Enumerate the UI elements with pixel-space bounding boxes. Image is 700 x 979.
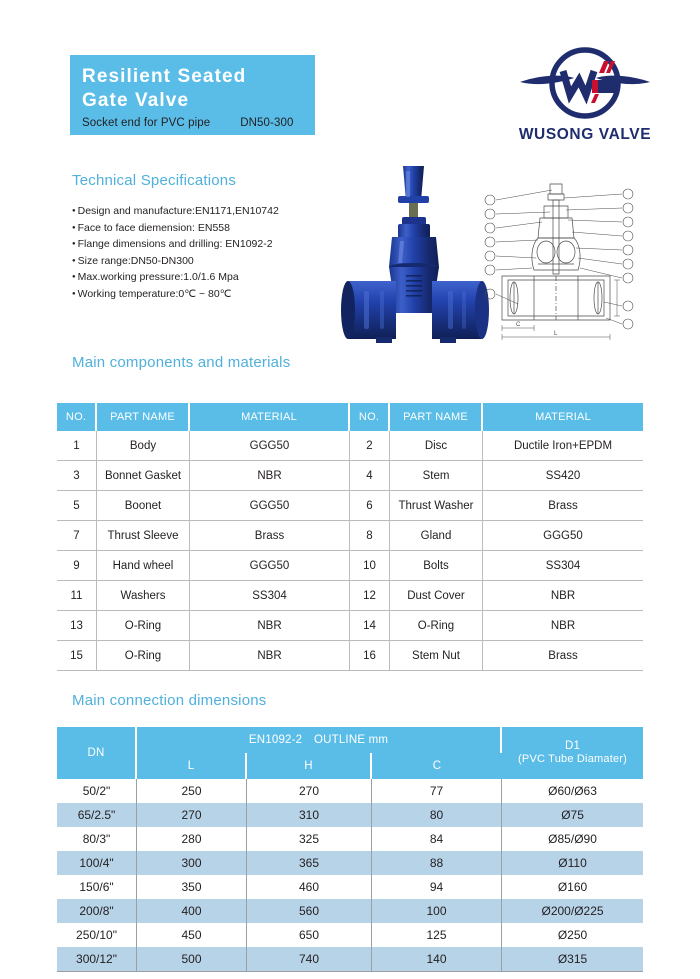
dimensions-table: DN EN1092-2 OUTLINE mm D1 (PVC Tube Diam… bbox=[57, 727, 643, 972]
cell-no: 13 bbox=[57, 611, 97, 641]
components-heading: Main components and materials bbox=[72, 354, 290, 371]
cell-c: 80 bbox=[372, 803, 502, 827]
cell-d1: Ø85/Ø90 bbox=[502, 827, 643, 851]
cell-no: 6 bbox=[350, 491, 390, 521]
spec-item: Working temperature:0℃ ~ 80℃ bbox=[72, 286, 352, 303]
cell-d1: Ø200/Ø225 bbox=[502, 899, 643, 923]
cell-part-name: Boonet bbox=[97, 491, 190, 521]
cell-part-name: O-Ring bbox=[97, 641, 190, 671]
cell-material: GGG50 bbox=[190, 551, 350, 581]
spec-item: Size range:DN50-DN300 bbox=[72, 253, 352, 270]
cell-h: 310 bbox=[247, 803, 372, 827]
cell-material: SS304 bbox=[190, 581, 350, 611]
table-row: 200/8" 400 560 100 Ø200/Ø225 bbox=[57, 899, 643, 923]
cell-part-name: Thrust Washer bbox=[390, 491, 483, 521]
column-header-material-left: MATERIAL bbox=[190, 403, 350, 431]
valve-cross-section-drawing: C L bbox=[462, 178, 648, 343]
cell-part-name: O-Ring bbox=[97, 611, 190, 641]
cell-no: 14 bbox=[350, 611, 390, 641]
cell-part-name: Bonnet Gasket bbox=[97, 461, 190, 491]
table-row: 150/6" 350 460 94 Ø160 bbox=[57, 875, 643, 899]
cell-h: 365 bbox=[247, 851, 372, 875]
cell-l: 300 bbox=[137, 851, 247, 875]
table-row: 300/12" 500 740 140 Ø315 bbox=[57, 947, 643, 972]
column-header-dn: DN bbox=[57, 727, 137, 779]
cell-material: Brass bbox=[190, 521, 350, 551]
table-row: 11 Washers SS304 12 Dust Cover NBR bbox=[57, 581, 643, 611]
cell-l: 450 bbox=[137, 923, 247, 947]
table-row: 250/10" 450 650 125 Ø250 bbox=[57, 923, 643, 947]
table-row: 7 Thrust Sleeve Brass 8 Gland GGG50 bbox=[57, 521, 643, 551]
cell-d1: Ø315 bbox=[502, 947, 643, 972]
cell-part-name: Gland bbox=[390, 521, 483, 551]
product-subtitle: Socket end for PVC pipeDN50-300 bbox=[82, 117, 315, 129]
cell-c: 88 bbox=[372, 851, 502, 875]
cell-material: GGG50 bbox=[190, 431, 350, 461]
cell-dn: 65/2.5" bbox=[57, 803, 137, 827]
cell-part-name: Body bbox=[97, 431, 190, 461]
cell-l: 270 bbox=[137, 803, 247, 827]
cell-part-name: Stem bbox=[390, 461, 483, 491]
cell-h: 460 bbox=[247, 875, 372, 899]
table-header-row: NO. PART NAME MATERIAL NO. PART NAME MAT… bbox=[57, 403, 643, 431]
cell-material: GGG50 bbox=[190, 491, 350, 521]
cell-part-name: O-Ring bbox=[390, 611, 483, 641]
svg-text:L: L bbox=[554, 331, 558, 337]
company-logo: WUSONG VALVE bbox=[500, 42, 670, 144]
cell-part-name: Bolts bbox=[390, 551, 483, 581]
table-row: 50/2" 250 270 77 Ø60/Ø63 bbox=[57, 779, 643, 803]
cell-material: NBR bbox=[190, 611, 350, 641]
cell-h: 650 bbox=[247, 923, 372, 947]
cell-c: 100 bbox=[372, 899, 502, 923]
table-row: 100/4" 300 365 88 Ø110 bbox=[57, 851, 643, 875]
cell-dn: 250/10" bbox=[57, 923, 137, 947]
cell-no: 15 bbox=[57, 641, 97, 671]
cell-material: NBR bbox=[190, 461, 350, 491]
cell-h: 325 bbox=[247, 827, 372, 851]
column-header-d1: D1 (PVC Tube Diamater) bbox=[502, 727, 643, 779]
cell-d1: Ø250 bbox=[502, 923, 643, 947]
cell-d1: Ø75 bbox=[502, 803, 643, 827]
cell-h: 560 bbox=[247, 899, 372, 923]
table-row: 13 O-Ring NBR 14 O-Ring NBR bbox=[57, 611, 643, 641]
spec-item: Flange dimensions and drilling: EN1092-2 bbox=[72, 236, 352, 253]
product-size-range: DN50-300 bbox=[240, 117, 293, 129]
spec-item: Design and manufacture:EN1171,EN10742 bbox=[72, 203, 352, 220]
svg-text:C: C bbox=[516, 322, 521, 328]
cell-no: 9 bbox=[57, 551, 97, 581]
cell-dn: 300/12" bbox=[57, 947, 137, 972]
cell-part-name: Stem Nut bbox=[390, 641, 483, 671]
cell-no: 8 bbox=[350, 521, 390, 551]
cell-material: Ductile Iron+EPDM bbox=[483, 431, 643, 461]
cell-l: 500 bbox=[137, 947, 247, 972]
column-header-no-right: NO. bbox=[350, 403, 390, 431]
cell-l: 250 bbox=[137, 779, 247, 803]
cell-c: 77 bbox=[372, 779, 502, 803]
company-name: WUSONG VALVE bbox=[500, 126, 670, 144]
product-title-block: Resilient Seated Gate Valve Socket end f… bbox=[70, 55, 315, 135]
technical-specifications-heading: Technical Specifications bbox=[72, 172, 236, 189]
cell-material: NBR bbox=[190, 641, 350, 671]
cell-part-name: Hand wheel bbox=[97, 551, 190, 581]
cell-no: 3 bbox=[57, 461, 97, 491]
column-header-d1-sub: (PVC Tube Diamater) bbox=[503, 752, 642, 766]
cell-l: 350 bbox=[137, 875, 247, 899]
cell-d1: Ø60/Ø63 bbox=[502, 779, 643, 803]
cell-no: 1 bbox=[57, 431, 97, 461]
table-row: 65/2.5" 270 310 80 Ø75 bbox=[57, 803, 643, 827]
cell-part-name: Washers bbox=[97, 581, 190, 611]
column-header-part-name-left: PART NAME bbox=[97, 403, 190, 431]
cell-dn: 150/6" bbox=[57, 875, 137, 899]
cell-part-name: Thrust Sleeve bbox=[97, 521, 190, 551]
column-header-part-name-right: PART NAME bbox=[390, 403, 483, 431]
logo-mark-icon bbox=[500, 42, 670, 124]
spec-item: Max.working pressure:1.0/1.6 Mpa bbox=[72, 269, 352, 286]
components-table: NO. PART NAME MATERIAL NO. PART NAME MAT… bbox=[57, 403, 643, 671]
cell-material: Brass bbox=[483, 491, 643, 521]
cell-no: 10 bbox=[350, 551, 390, 581]
cell-d1: Ø110 bbox=[502, 851, 643, 875]
column-header-l: L bbox=[137, 753, 247, 779]
cell-material: GGG50 bbox=[483, 521, 643, 551]
table-row: 5 Boonet GGG50 6 Thrust Washer Brass bbox=[57, 491, 643, 521]
cell-no: 2 bbox=[350, 431, 390, 461]
cell-part-name: Dust Cover bbox=[390, 581, 483, 611]
product-title-line-2: Gate Valve bbox=[82, 89, 315, 113]
cell-h: 740 bbox=[247, 947, 372, 972]
cell-c: 125 bbox=[372, 923, 502, 947]
cell-h: 270 bbox=[247, 779, 372, 803]
cell-c: 84 bbox=[372, 827, 502, 851]
cell-part-name: Disc bbox=[390, 431, 483, 461]
cell-no: 12 bbox=[350, 581, 390, 611]
cell-l: 280 bbox=[137, 827, 247, 851]
cell-no: 4 bbox=[350, 461, 390, 491]
spec-item: Face to face diemension: EN558 bbox=[72, 220, 352, 237]
cell-l: 400 bbox=[137, 899, 247, 923]
cell-dn: 200/8" bbox=[57, 899, 137, 923]
table-row: 3 Bonnet Gasket NBR 4 Stem SS420 bbox=[57, 461, 643, 491]
column-header-outline-group: EN1092-2 OUTLINE mm bbox=[137, 727, 502, 753]
product-subtitle-text: Socket end for PVC pipe bbox=[82, 117, 210, 129]
table-row: 80/3" 280 325 84 Ø85/Ø90 bbox=[57, 827, 643, 851]
cell-dn: 80/3" bbox=[57, 827, 137, 851]
column-header-no-left: NO. bbox=[57, 403, 97, 431]
cell-c: 140 bbox=[372, 947, 502, 972]
column-header-c: C bbox=[372, 753, 502, 779]
cell-material: NBR bbox=[483, 611, 643, 641]
dimensions-heading: Main connection dimensions bbox=[72, 692, 266, 709]
cell-d1: Ø160 bbox=[502, 875, 643, 899]
table-row: 15 O-Ring NBR 16 Stem Nut Brass bbox=[57, 641, 643, 671]
cell-material: SS420 bbox=[483, 461, 643, 491]
cell-material: SS304 bbox=[483, 551, 643, 581]
cell-no: 11 bbox=[57, 581, 97, 611]
cell-c: 94 bbox=[372, 875, 502, 899]
cell-dn: 100/4" bbox=[57, 851, 137, 875]
cell-material: NBR bbox=[483, 581, 643, 611]
table-row: 9 Hand wheel GGG50 10 Bolts SS304 bbox=[57, 551, 643, 581]
table-row: 1 Body GGG50 2 Disc Ductile Iron+EPDM bbox=[57, 431, 643, 461]
cell-no: 7 bbox=[57, 521, 97, 551]
technical-specifications-list: Design and manufacture:EN1171,EN10742 Fa… bbox=[72, 203, 352, 302]
cell-dn: 50/2" bbox=[57, 779, 137, 803]
cell-material: Brass bbox=[483, 641, 643, 671]
column-header-h: H bbox=[247, 753, 372, 779]
table-header-row-top: DN EN1092-2 OUTLINE mm D1 (PVC Tube Diam… bbox=[57, 727, 643, 753]
product-title-line-1: Resilient Seated bbox=[82, 65, 315, 89]
cell-no: 16 bbox=[350, 641, 390, 671]
column-header-material-right: MATERIAL bbox=[483, 403, 643, 431]
column-header-d1-main: D1 bbox=[565, 740, 580, 752]
cell-no: 5 bbox=[57, 491, 97, 521]
